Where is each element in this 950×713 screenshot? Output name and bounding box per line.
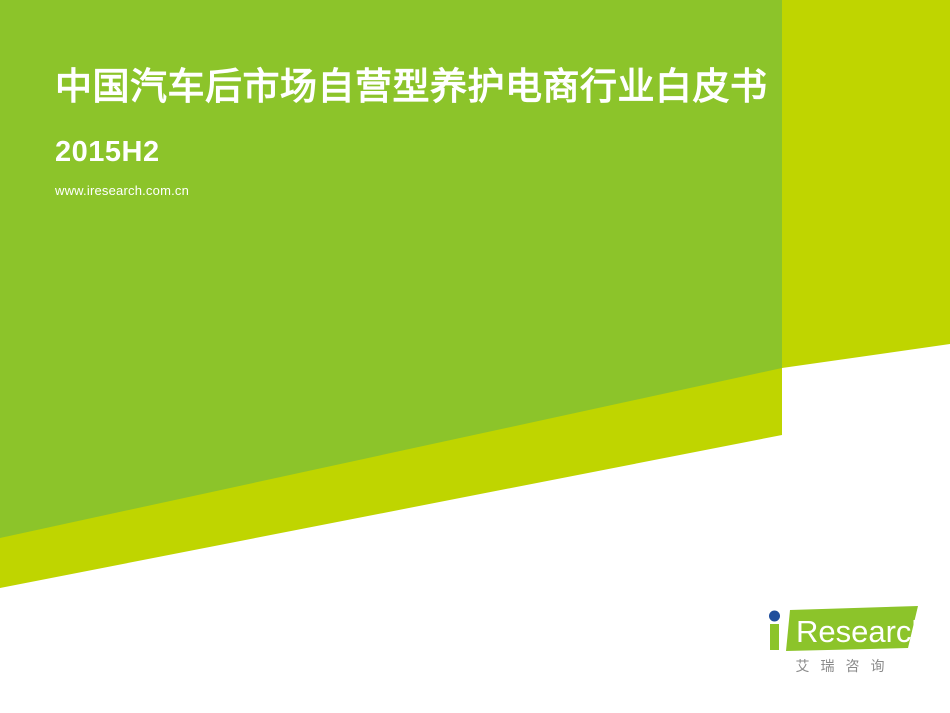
logo-plate-icon: Research [760,606,920,654]
iresearch-logo: Research 艾瑞咨询 [760,606,920,684]
slide-canvas: 中国汽车后市场自营型养护电商行业白皮书 2015H2 www.iresearch… [0,0,950,713]
logo-research-text: Research [796,614,920,649]
page-title: 中国汽车后市场自营型养护电商行业白皮书 [55,64,915,110]
logo-chinese-name: 艾瑞咨询 [760,656,920,676]
website-url: www.iresearch.com.cn [55,183,915,198]
report-period-subtitle: 2015H2 [55,136,915,169]
logo-wordmark: Research [760,606,920,654]
logo-i-dot [769,611,780,622]
title-block: 中国汽车后市场自营型养护电商行业白皮书 2015H2 www.iresearch… [55,64,915,198]
logo-i-stem [770,624,779,650]
